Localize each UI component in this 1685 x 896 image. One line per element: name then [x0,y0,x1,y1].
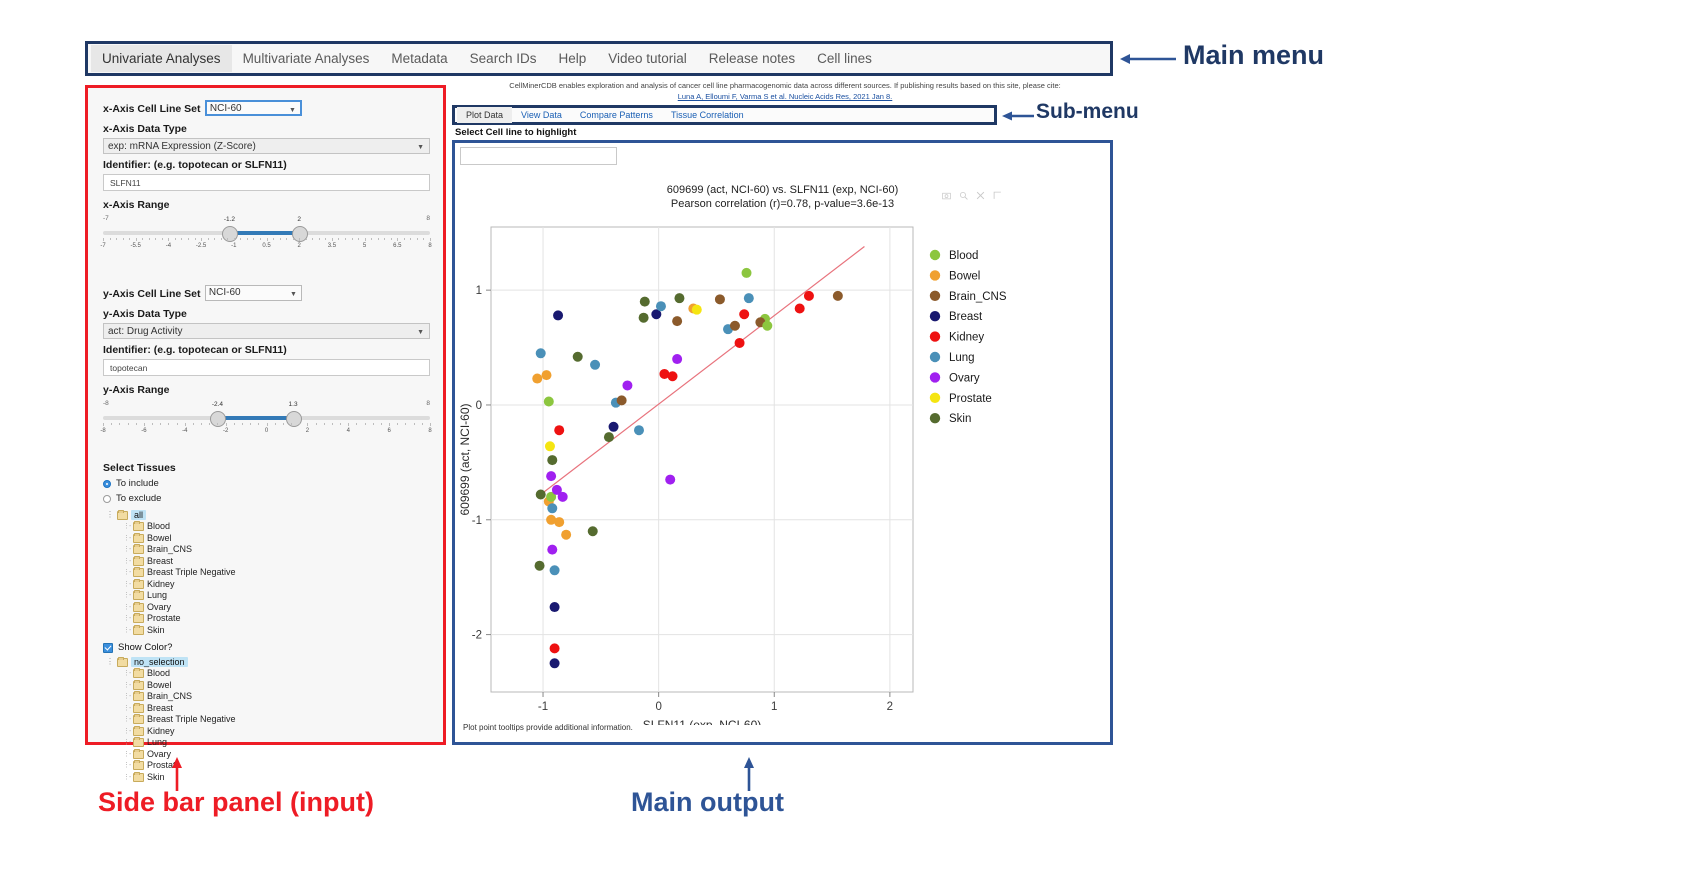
main-output-panel: 609699 (act, NCI-60) vs. SLFN11 (exp, NC… [452,140,1113,745]
legend-label: Skin [949,413,971,425]
y-cell-line-set-select[interactable]: NCI-60 ▼ [205,285,302,301]
tree-connector-icon: ⋮- [123,533,133,545]
y-range-minor-tick [365,423,366,425]
scatter-point[interactable] [573,352,583,362]
scatter-point[interactable] [550,565,560,575]
x-range-tick [267,238,268,241]
x-tick-label: 1 [771,701,777,713]
checkbox-icon [103,643,113,653]
y-cell-line-set-label: y-Axis Cell Line Set [103,288,200,300]
tree-connector-icon: ⋮- [123,567,133,579]
scatter-point[interactable] [541,370,551,380]
folder-icon [133,773,144,782]
annotation-sidebar: Side bar panel (input) [98,787,374,818]
scatter-point[interactable] [547,503,557,513]
scatter-point[interactable] [634,425,644,435]
tree-connector-icon: ⋮- [123,703,133,715]
x-slider-fill [229,231,299,235]
tree-item-lung[interactable]: ⋮-Lung [123,737,433,749]
tree-connector-icon: ⋮- [123,590,133,602]
chevron-down-icon: ▼ [290,288,297,301]
tree-root-no-selection-label: no_selection [131,657,188,667]
tree-item-breast-triple-negative[interactable]: ⋮-Breast Triple Negative [123,714,433,726]
y-range-tick-label: -2 [223,428,228,434]
x-data-type-value: exp: mRNA Expression (Z-Score) [108,141,256,152]
legend-label: Bowel [949,270,980,282]
x-range-tick-label: 0.5 [262,243,270,249]
y-range-tick-label: 4 [347,428,350,434]
menu-item-cell-lines[interactable]: Cell lines [806,45,883,72]
x-range-minor-tick [293,238,294,240]
folder-icon [117,658,128,667]
y-range-tick [144,423,145,426]
legend-swatch[interactable] [930,331,940,341]
folder-icon [133,591,144,600]
tree-item-bowel[interactable]: ⋮-Bowel [123,533,433,545]
scatter-point[interactable] [588,526,598,536]
scatter-point[interactable] [672,354,682,364]
y-range-tick [389,423,390,426]
tree-connector-icon: ⋮- [123,613,133,625]
x-range-minor-tick [417,238,418,240]
menu-item-video-tutorial[interactable]: Video tutorial [597,45,698,72]
tree-connector-icon: ⋮- [123,691,133,703]
y-range-minor-tick [201,423,202,425]
x-range-minor-tick [110,238,111,240]
tree-item-bowel[interactable]: ⋮-Bowel [123,680,433,692]
legend-swatch[interactable] [930,352,940,362]
y-identifier-input[interactable]: topotecan [103,359,430,376]
sidebar-content: x-Axis Cell Line Set NCI-60 ▼ x-Axis Dat… [88,88,443,742]
legend-swatch[interactable] [930,311,940,321]
x-range-tick-label: 5 [363,243,366,249]
x-range-tick [332,238,333,241]
y-range-tick-label: 8 [428,428,431,434]
scatter-point[interactable] [554,517,564,527]
x-range-minor-tick [195,238,196,240]
tree-item-label: Breast Triple Negative [147,567,236,579]
y-range-tick-label: 2 [306,428,309,434]
legend-label: Brain_CNS [949,291,1007,303]
x-range-minor-tick [312,238,313,240]
y-data-type-select[interactable]: act: Drug Activity ▼ [103,323,430,339]
radio-exclude-icon [103,495,111,503]
x-range-min-label: -7 [103,215,109,222]
scatter-point[interactable] [532,374,542,384]
scatter-point[interactable] [730,321,740,331]
x-range-tick [299,238,300,241]
y-slider-high-value: 1.3 [289,401,298,408]
x-slider-high-value: 2 [297,216,301,223]
x-range-minor-tick [260,238,261,240]
tree-item-blood[interactable]: ⋮-Blood [123,668,433,680]
y-range-minor-tick [258,423,259,425]
x-range-tick-label: 3.5 [328,243,336,249]
y-range-minor-tick [422,423,423,425]
scatter-point[interactable] [561,530,571,540]
x-range-tick-label: 8 [428,243,431,249]
tissue-tree-all: ⋮ all ⋮-Blood⋮-Bowel⋮-Brain_CNS⋮-Breast⋮… [103,510,433,636]
scatter-point[interactable] [640,297,650,307]
scatter-point[interactable] [656,301,666,311]
tree-item-label: Lung [147,590,167,602]
legend-label: Prostate [949,393,992,405]
scatter-point[interactable] [550,643,560,653]
x-range-minor-tick [378,238,379,240]
folder-icon [133,750,144,759]
y-range-minor-tick [275,423,276,425]
x-range-tick-label: 2 [298,243,301,249]
x-range-minor-tick [371,238,372,240]
scatter-point[interactable] [558,492,568,502]
x-range-tick-label: -4 [166,243,171,249]
tree-item-brain-cns[interactable]: ⋮-Brain_CNS [123,691,433,703]
tree-item-label: Skin [147,625,165,637]
scatter-point[interactable] [546,471,556,481]
x-range-tick [234,238,235,241]
radio-exclude-label: To exclude [116,493,161,504]
y-range-minor-tick [381,423,382,425]
sidebar-panel: x-Axis Cell Line Set NCI-60 ▼ x-Axis Dat… [85,85,446,745]
scatter-point[interactable] [795,304,805,314]
tree-no-selection-children: ⋮-Blood⋮-Bowel⋮-Brain_CNS⋮-Breast⋮-Breas… [103,668,433,783]
scatter-point[interactable] [674,293,684,303]
tree-item-label: Brain_CNS [147,544,192,556]
y-range-minor-tick [136,423,137,425]
y-range-tick [307,423,308,426]
tree-item-breast[interactable]: ⋮-Breast [123,703,433,715]
plot-canvas: -1012-2-101SLFN11 (exp, NCI-60)609699 (a… [455,165,1110,725]
tree-connector-icon: ⋮- [123,749,133,761]
select-tissues-label: Select Tissues [103,462,433,474]
citation-line1: CellMinerCDB enables exploration and ana… [455,80,1115,91]
x-range-minor-tick [352,238,353,240]
x-range-tick-label: 6.5 [393,243,401,249]
x-range-minor-tick [129,238,130,240]
x-range-minor-tick [253,238,254,240]
annotation-main-menu: Main menu [1183,40,1324,71]
x-range-minor-tick [286,238,287,240]
x-range-minor-tick [175,238,176,240]
tree-item-label: Blood [147,521,170,533]
legend-swatch[interactable] [930,393,940,403]
main-menu-arrow [1118,46,1180,72]
x-range-minor-tick [410,238,411,240]
y-range-minor-tick [340,423,341,425]
legend-label: Breast [949,311,983,323]
folder-icon [133,557,144,566]
legend-label: Kidney [949,332,984,344]
sub-menu-item-plot-data[interactable]: Plot Data [457,107,512,123]
x-range-minor-tick [155,238,156,240]
y-cell-line-set-value: NCI-60 [209,287,241,298]
folder-icon [133,738,144,747]
x-range-label: x-Axis Range [103,199,433,211]
x-range-minor-tick [404,238,405,240]
legend-swatch[interactable] [930,291,940,301]
x-range-minor-tick [227,238,228,240]
scatter-point[interactable] [617,395,627,405]
scatter-point[interactable] [544,397,554,407]
x-cell-line-set-value: NCI-60 [210,103,242,114]
scatter-point[interactable] [609,422,619,432]
scatter-point[interactable] [547,545,557,555]
tree-item-ovary[interactable]: ⋮-Ovary [123,602,433,614]
tree-item-label: Skin [147,772,165,784]
radio-to-exclude[interactable]: To exclude [103,493,433,504]
y-tick-label: -1 [472,515,482,527]
y-tick-label: 0 [476,400,482,412]
x-range-minor-tick [280,238,281,240]
tree-item-label: Ovary [147,602,171,614]
scatter-point[interactable] [715,294,725,304]
tree-item-label: Lung [147,737,167,749]
tree-item-blood[interactable]: ⋮-Blood [123,521,433,533]
tree-connector-icon: ⋮- [123,772,133,784]
scatter-point[interactable] [692,305,702,315]
tree-item-label: Bowel [147,680,172,692]
scatter-point[interactable] [668,371,678,381]
y-range-tick-label: 0 [265,428,268,434]
x-range-slider[interactable]: -7 8 -1.2 2 -7-5.5-4-2.5-10.523.556.58 [103,215,430,261]
sub-menu-item-compare-patterns[interactable]: Compare Patterns [571,107,662,123]
scatter-point[interactable] [536,490,546,500]
y-range-minor-tick [234,423,235,425]
tree-item-brain-cns[interactable]: ⋮-Brain_CNS [123,544,433,556]
x-tick-label: 0 [655,701,661,713]
y-range-minor-tick [128,423,129,425]
legend-swatch[interactable] [930,250,940,260]
tree-connector-icon: ⋮- [123,760,133,772]
scatter-point[interactable] [672,316,682,326]
scatter-point[interactable] [833,291,843,301]
cell-line-highlight-input[interactable] [460,147,617,165]
scatter-point[interactable] [554,425,564,435]
scatter-point[interactable] [550,658,560,668]
scatter-point[interactable] [545,441,555,451]
tree-item-label: Breast Triple Negative [147,714,236,726]
radio-include-label: To include [116,478,159,489]
x-range-tick-label: -7 [100,243,105,249]
scatter-point[interactable] [742,268,752,278]
y-range-minor-tick [217,423,218,425]
x-range-tick-label: -1 [231,243,236,249]
tree-item-lung[interactable]: ⋮-Lung [123,590,433,602]
tree-connector-icon: ⋮- [123,602,133,614]
y-range-tick [103,423,104,426]
tree-connector-icon: ⋮- [123,680,133,692]
annotation-sub-menu: Sub-menu [1036,100,1139,124]
sub-menu-bar: Plot DataView DataCompare PatternsTissue… [452,105,997,125]
scatter-point[interactable] [550,602,560,612]
radio-to-include[interactable]: To include [103,478,433,489]
y-range-tick [185,423,186,426]
folder-icon [133,681,144,690]
x-range-tick [430,238,431,241]
citation-link[interactable]: Luna A, Elloumi F, Varma S et al. Nuclei… [455,91,1115,102]
y-range-minor-tick [111,423,112,425]
x-range-minor-tick [319,238,320,240]
x-slider-ticks: -7-5.5-4-2.5-10.523.556.58 [103,238,430,256]
x-range-minor-tick [181,238,182,240]
y-range-tick-label: -4 [182,428,187,434]
folder-icon [133,715,144,724]
folder-icon [133,692,144,701]
tree-connector-icon: ⋮- [123,556,133,568]
x-range-minor-tick [247,238,248,240]
legend-swatch[interactable] [930,372,940,382]
show-color-checkbox[interactable]: Show Color? [103,642,433,653]
menu-item-release-notes[interactable]: Release notes [698,45,806,72]
scatter-point[interactable] [547,455,557,465]
tree-item-label: Breast [147,556,173,568]
y-range-minor-tick [332,423,333,425]
tree-connector-icon: ⋮- [123,726,133,738]
y-range-tick [430,423,431,426]
scatter-plot: 609699 (act, NCI-60) vs. SLFN11 (exp, NC… [455,165,1110,725]
y-range-max-label: 8 [426,400,430,407]
tree-connector-icon: ⋮- [123,668,133,680]
folder-icon [133,669,144,678]
y-range-minor-tick [356,423,357,425]
menu-item-univariate-analyses[interactable]: Univariate Analyses [91,45,232,72]
main-menu-items: Univariate AnalysesMultivariate Analyses… [88,44,1110,73]
tree-root-no-selection[interactable]: ⋮ no_selection [103,657,433,667]
y-range-label: y-Axis Range [103,384,433,396]
scatter-point[interactable] [744,293,754,303]
tree-item-label: Breast [147,703,173,715]
x-range-minor-tick [142,238,143,240]
x-identifier-input[interactable]: SLFN11 [103,174,430,191]
y-range-minor-tick [397,423,398,425]
tree-connector-icon: ⋮- [123,521,133,533]
folder-icon [133,580,144,589]
x-range-minor-tick [123,238,124,240]
x-range-minor-tick [162,238,163,240]
menu-item-metadata[interactable]: Metadata [380,45,458,72]
plot-footer-note: Plot point tooltips provide additional i… [458,723,633,732]
x-range-minor-tick [273,238,274,240]
folder-icon [133,522,144,531]
folder-icon [117,511,128,520]
y-range-minor-tick [373,423,374,425]
tree-item-skin[interactable]: ⋮-Skin [123,625,433,637]
scatter-point[interactable] [590,360,600,370]
citation-block: CellMinerCDB enables exploration and ana… [455,80,1115,102]
scatter-point[interactable] [735,338,745,348]
sub-menu-item-view-data[interactable]: View Data [512,107,571,123]
scatter-point[interactable] [535,561,545,571]
x-cell-line-set-label: x-Axis Cell Line Set [103,103,200,115]
tree-item-breast-triple-negative[interactable]: ⋮-Breast Triple Negative [123,567,433,579]
sub-menu-item-tissue-correlation[interactable]: Tissue Correlation [662,107,753,123]
tree-connector-icon: ⋮- [123,544,133,556]
scatter-point[interactable] [739,309,749,319]
y-identifier-label: Identifier: (e.g. topotecan or SLFN11) [103,344,433,356]
x-slider-low-value: -1.2 [224,216,235,223]
menu-item-multivariate-analyses[interactable]: Multivariate Analyses [232,45,381,72]
scatter-point[interactable] [762,321,772,331]
scatter-point[interactable] [553,310,563,320]
x-range-minor-tick [306,238,307,240]
tree-item-label: Blood [147,668,170,680]
y-range-minor-tick [193,423,194,425]
y-range-tick [267,423,268,426]
tree-item-kidney[interactable]: ⋮-Kidney [123,579,433,591]
y-range-tick [226,423,227,426]
legend-label: Lung [949,352,975,364]
y-range-minor-tick [414,423,415,425]
tree-item-breast[interactable]: ⋮-Breast [123,556,433,568]
menu-item-search-ids[interactable]: Search IDs [459,45,548,72]
chevron-down-icon: ▼ [417,326,424,339]
y-slider-fill [217,416,293,420]
chevron-down-icon: ▼ [289,104,296,117]
x-range-minor-tick [391,238,392,240]
x-tick-label: -1 [538,701,548,713]
x-range-tick [397,238,398,241]
y-range-slider[interactable]: -8 8 -2.4 1.3 -8-6-4-202468 [103,400,430,446]
tree-item-label: Brain_CNS [147,691,192,703]
folder-icon [133,545,144,554]
tree-item-kidney[interactable]: ⋮-Kidney [123,726,433,738]
legend-label: Blood [949,250,978,262]
tree-root-all[interactable]: ⋮ all [103,510,433,520]
x-range-minor-tick [214,238,215,240]
y-range-minor-tick [119,423,120,425]
scatter-point[interactable] [804,291,814,301]
y-range-tick-label: -8 [100,428,105,434]
y-tick-label: -2 [472,630,482,642]
tree-item-prostate[interactable]: ⋮-Prostate [123,613,433,625]
scatter-point[interactable] [604,432,614,442]
tree-expander-icon[interactable]: ⋮ [103,657,117,667]
x-data-type-select[interactable]: exp: mRNA Expression (Z-Score) ▼ [103,138,430,154]
x-range-minor-tick [149,238,150,240]
x-range-minor-tick [208,238,209,240]
legend-swatch[interactable] [930,413,940,423]
tissue-tree-no-selection: ⋮ no_selection ⋮-Blood⋮-Bowel⋮-Brain_CNS… [103,657,433,783]
folder-icon [133,704,144,713]
x-cell-line-set-select[interactable]: NCI-60 ▼ [205,100,302,116]
tree-expander-icon[interactable]: ⋮ [103,510,117,520]
y-range-minor-tick [283,423,284,425]
folder-icon [133,761,144,770]
chevron-down-icon: ▼ [417,141,424,154]
x-range-max-label: 8 [426,215,430,222]
tree-item-label: Kidney [147,579,175,591]
menu-item-help[interactable]: Help [547,45,597,72]
y-data-type-label: y-Axis Data Type [103,308,433,320]
y-range-minor-tick [160,423,161,425]
y-range-minor-tick [250,423,251,425]
y-slider-low-value: -2.4 [212,401,223,408]
x-range-tick [365,238,366,241]
scatter-point[interactable] [622,380,632,390]
scatter-point[interactable] [536,348,546,358]
x-range-minor-tick [358,238,359,240]
y-range-minor-tick [168,423,169,425]
scatter-point[interactable] [639,313,649,323]
legend-swatch[interactable] [930,270,940,280]
folder-icon [133,626,144,635]
scatter-point[interactable] [665,475,675,485]
y-range-tick-label: -6 [141,428,146,434]
sub-menu-arrow [1000,105,1036,127]
x-range-minor-tick [116,238,117,240]
y-tick-label: 1 [476,285,482,297]
x-data-type-label: x-Axis Data Type [103,123,433,135]
